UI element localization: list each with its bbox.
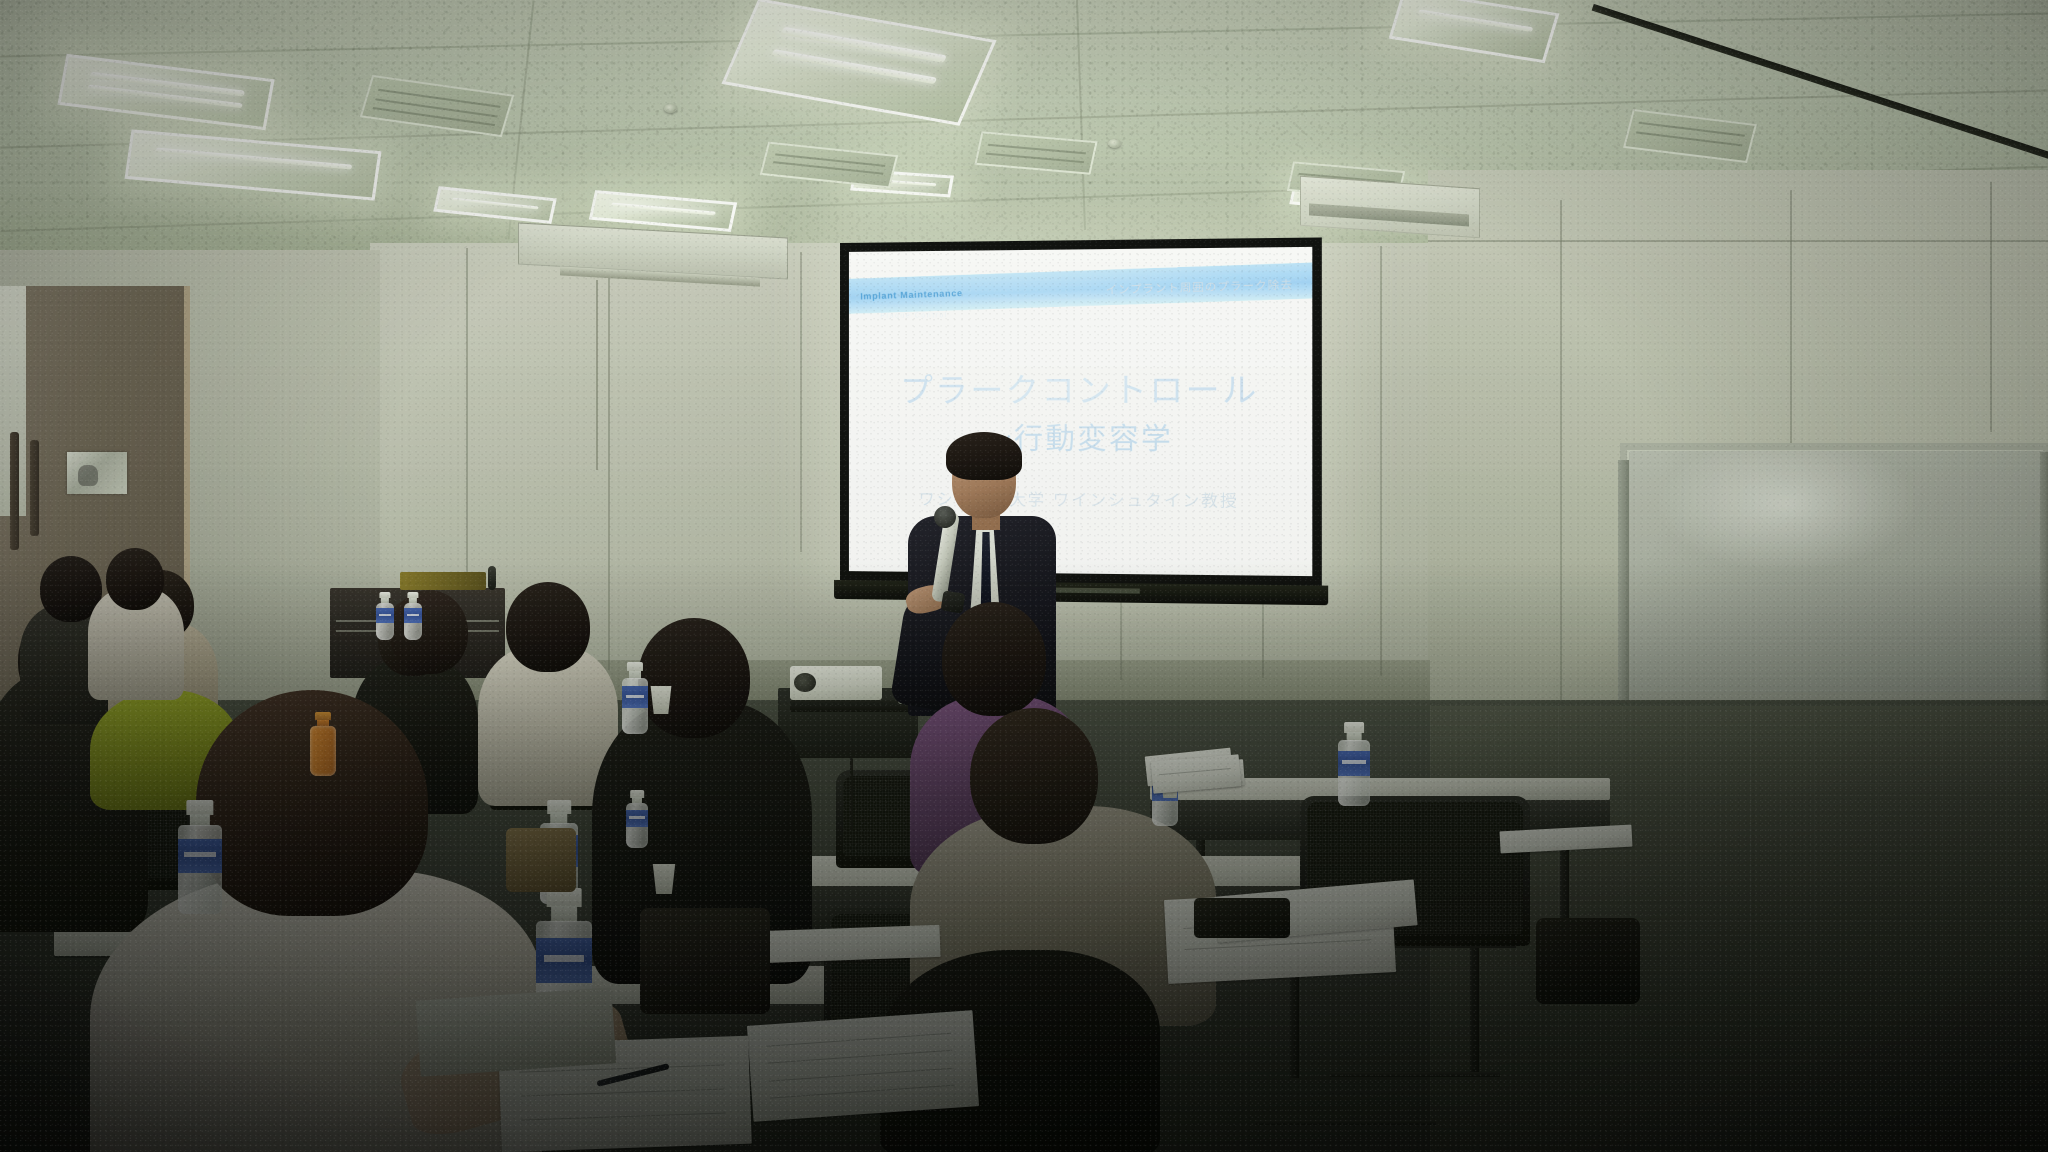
attendee-head [106,548,164,610]
seminar-room-photo: Implant Maintenance インプラント周囲のプラーク除去 Plaq… [0,0,2048,1152]
presenter-hair [946,432,1022,480]
handout-line [768,1050,953,1064]
wall-panel-seam [1380,246,1382,676]
microphone-base [941,590,966,613]
smoke-detector-icon [1108,139,1121,148]
bottle-label [626,810,648,827]
water-bottle[interactable] [404,592,422,640]
wall-panel-seam [1428,240,2048,242]
water-bottle[interactable] [1338,722,1370,806]
bottle-cap [186,800,213,815]
slide-title-line1: プラークコントロール [849,362,1312,412]
projector [790,666,882,700]
handbag[interactable] [640,908,770,1014]
door-poster [67,452,127,494]
smoke-detector-icon [664,104,677,113]
wall-panel-seam [1560,200,1562,700]
whiteboard-leg [1618,460,1629,706]
cabinet-top-items [400,572,486,590]
cabinet-mic-stand [488,566,496,590]
handbag[interactable] [506,828,576,892]
bottle-label [536,938,592,982]
handout-line [521,1112,726,1120]
attendee-head [390,590,468,674]
bottle-label [376,608,394,622]
whiteboard[interactable] [1620,443,2048,718]
attendee-head [638,618,750,738]
handout-line [1185,940,1372,951]
handout-line [520,1088,725,1096]
attendee-head [942,602,1046,716]
wall-panel-seam [608,250,610,670]
bottle-body [310,726,336,776]
wall-panel-seam [1990,182,1992,432]
whiteboard-surface[interactable] [1630,451,2044,692]
handout-line [766,1033,951,1047]
water-bottle[interactable] [178,800,222,914]
handbag[interactable] [1536,918,1640,1004]
projection-screen-cord[interactable] [596,280,598,470]
slide-banner-label: Implant Maintenance [860,287,963,301]
bottle-label [404,608,422,622]
table-leg [1470,948,1479,1072]
handout[interactable] [759,925,940,963]
handout[interactable] [747,1010,979,1122]
notebook-binder[interactable] [416,987,617,1076]
chair-base [1330,1072,1500,1077]
slide-title-line2: 〜行動変容学 [849,415,1312,458]
handout-line [770,1085,955,1099]
water-bottle[interactable] [626,790,648,848]
water-bottle[interactable] [376,592,394,640]
orange-drink-bottle[interactable] [310,712,336,776]
name-card-line [1159,768,1231,775]
door-handle[interactable] [10,432,19,550]
bottle-neck [551,906,577,922]
slide-author-line: ワシントン大学 ワインシュタイン教授 [849,485,1312,512]
bottle-label [1338,751,1370,776]
projector-power-cable [850,758,853,830]
handout-line [769,1067,954,1081]
bottle-label [178,839,222,873]
whiteboard-leg [2040,452,2048,702]
chair-base [1256,1120,1436,1125]
wall-panel-seam [1790,190,1792,450]
attendee-head [506,582,590,672]
handbag[interactable] [1194,898,1290,938]
attendee-head [970,708,1098,844]
slide-subhead-text: Plaque Control [880,312,947,319]
wall-panel-seam [800,252,802,552]
water-bottle[interactable] [622,662,648,734]
door-handle[interactable] [30,440,39,536]
bottle-label [622,686,648,708]
table-leg [1560,840,1569,928]
